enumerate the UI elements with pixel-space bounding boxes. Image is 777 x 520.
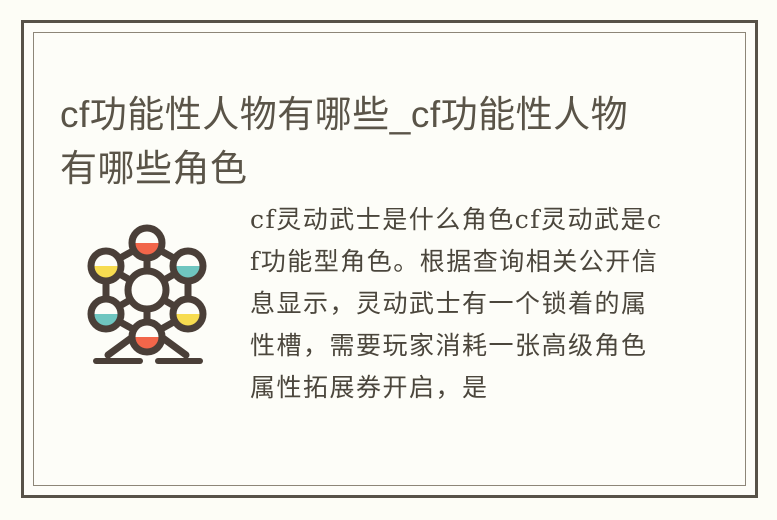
ferris-wheel-hub (128, 271, 166, 309)
ferris-wheel-graphic (82, 215, 212, 365)
article-body: cf灵动武士是什么角色cf灵动武是cf功能型角色。根据查询相关公开信息显示，灵动… (250, 199, 670, 409)
article-content: cf灵动武士是什么角色cf灵动武是cf功能型角色。根据查询相关公开信息显示，灵动… (60, 199, 737, 485)
ferris-wheel-icon (82, 215, 212, 365)
page-frame-outer: cf功能性人物有哪些_cf功能性人物有哪些角色 (21, 20, 758, 498)
article-page: cf功能性人物有哪些_cf功能性人物有哪些角色 (0, 0, 777, 520)
page-title: cf功能性人物有哪些_cf功能性人物有哪些角色 (60, 88, 660, 196)
